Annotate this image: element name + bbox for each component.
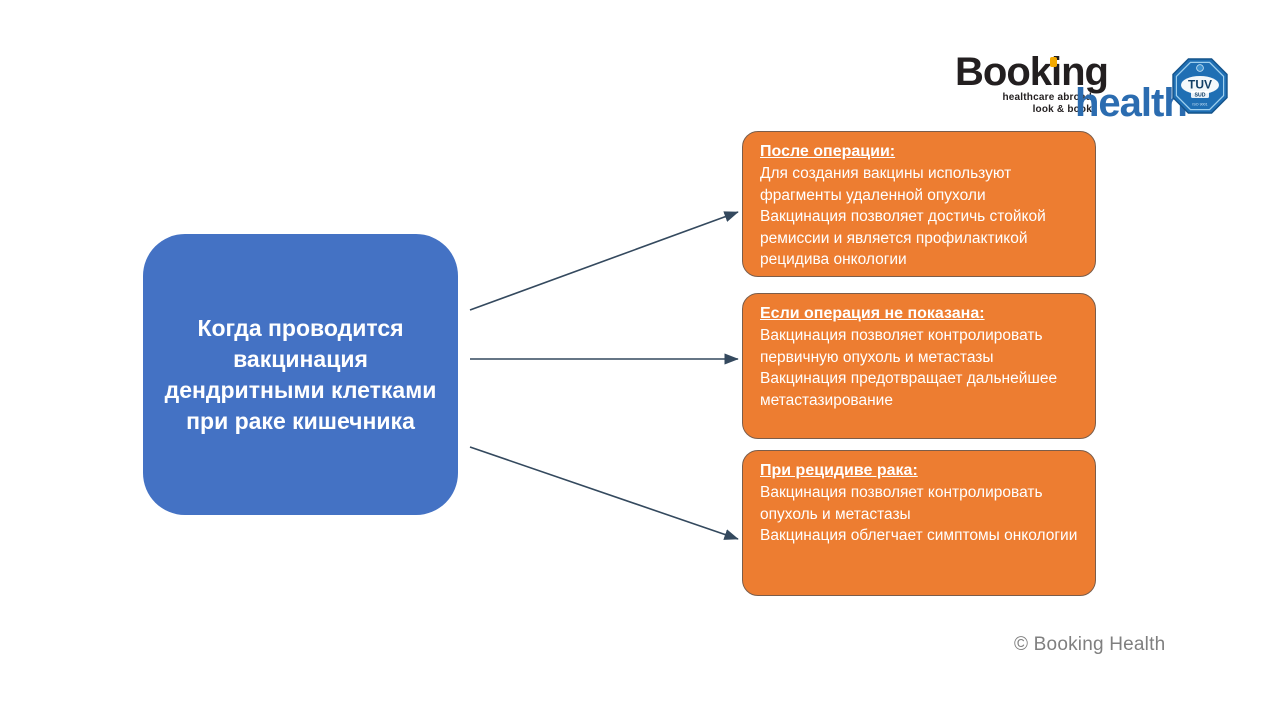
main-topic-label: Когда проводится вакцинация дендритными … <box>161 313 440 437</box>
logo-accent-dot-icon <box>1050 57 1057 67</box>
callout-box-surgery-not-indicated: Если операция не показана: Вакцинация по… <box>742 293 1096 439</box>
tuv-seal-bottom-text: SUD <box>1195 93 1206 99</box>
tuv-seal-footer-text: ISO 9001 <box>1192 103 1207 107</box>
callout-title: Если операция не показана: <box>760 303 1079 325</box>
slide-canvas: Booking healthcare abroadlook & book hea… <box>0 0 1280 720</box>
callout-body: Вакцинация позволяет контролировать перв… <box>760 325 1079 411</box>
callout-title: После операции: <box>760 141 1079 163</box>
callout-box-cancer-recurrence: При рецидиве рака: Вакцинация позволяет … <box>742 450 1096 596</box>
logo-tagline: healthcare abroadlook & book <box>967 92 1092 116</box>
tuv-seal-top-text: TUV <box>1188 78 1212 92</box>
main-topic-box: Когда проводится вакцинация дендритными … <box>143 234 458 515</box>
callout-box-after-surgery: После операции: Для создания вакцины исп… <box>742 131 1096 277</box>
logo-secondary-text: health <box>1075 83 1187 123</box>
callout-title: При рецидиве рака: <box>760 460 1079 482</box>
callout-body: Для создания вакцины используют фрагмент… <box>760 163 1079 271</box>
tuv-sud-seal-icon: TUV SUD ISO 9001 <box>1172 58 1228 114</box>
copyright-notice: © Booking Health <box>1014 634 1165 656</box>
booking-health-logo: Booking healthcare abroadlook & book hea… <box>955 52 1170 124</box>
callout-body: Вакцинация позволяет контролировать опух… <box>760 482 1079 547</box>
